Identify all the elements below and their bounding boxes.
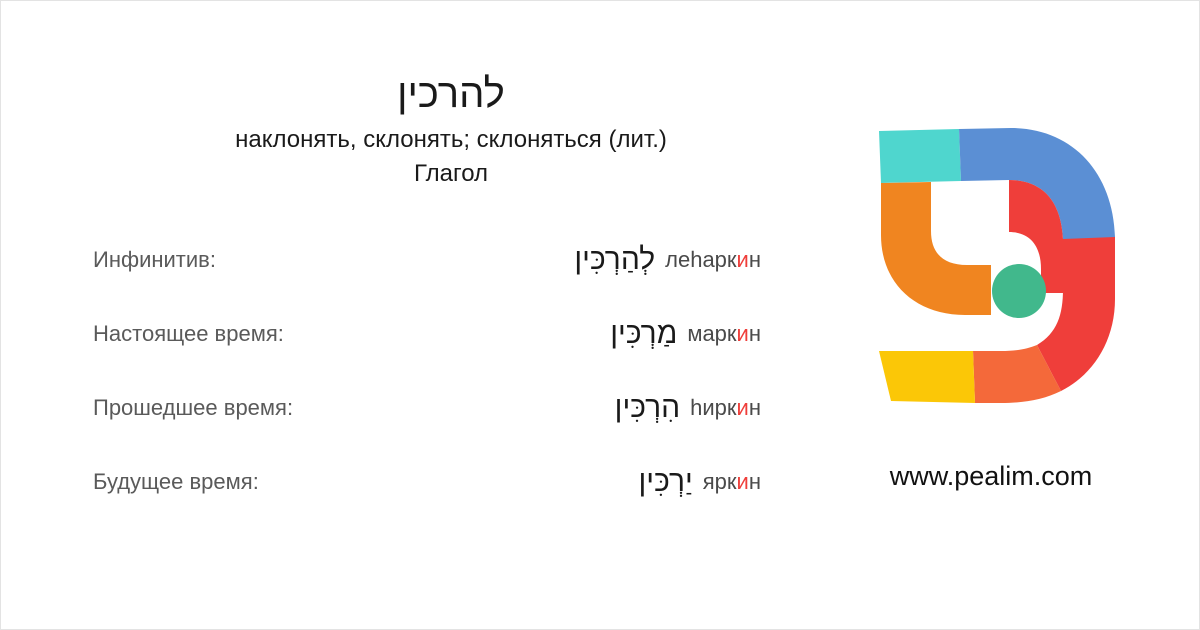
header: להרכין наклонять, склонять; склоняться (… [1,67,901,191]
translit-prefix: һирк [690,395,736,420]
row-forms: לְהַרְכִּיןлеһаркин [301,239,761,281]
logo-segment-yellow [879,351,975,403]
hebrew-form-present: מַרְכִּין [610,313,677,355]
translit-highlight: и [737,395,749,420]
hebrew-form-infinitive: לְהַרְכִּין [574,239,655,281]
pealim-logo-icon [871,119,1121,404]
part-of-speech: Глагол [1,157,901,191]
translit-suffix: н [749,469,761,494]
logo-segment-teal [879,129,961,183]
table-row: Инфинитив: לְהַרְכִּיןлеһаркин [1,233,801,307]
table-row: Настоящее время: מַרְכִּיןмаркин [1,307,801,381]
logo-inner-hook [881,182,991,315]
translit-highlight: и [737,469,749,494]
table-row: Прошедшее время: הִרְכִּיןһиркин [1,381,801,455]
transliteration-past: һиркин [690,393,761,423]
translit-suffix: н [749,321,761,346]
conjugation-table: Инфинитив: לְהַרְכִּיןлеһаркин Настоящее… [1,233,801,529]
transliteration-present: маркин [687,319,761,349]
row-forms: יַרְכִּיןяркин [301,461,761,503]
share-card: להרכין наклонять, склонять; склоняться (… [0,0,1200,630]
row-label-present: Настоящее время: [93,319,284,349]
translit-prefix: марк [687,321,736,346]
row-label-infinitive: Инфинитив: [93,245,216,275]
translit-prefix: леһарк [665,247,736,272]
logo-green-dot [992,264,1046,318]
page-title-hebrew: להרכין [1,67,901,121]
translation-text: наклонять, склонять; склоняться (лит.) [1,123,901,157]
logo-container [861,119,1131,419]
translit-highlight: и [737,247,749,272]
translit-prefix: ярк [703,469,737,494]
logo-segment-orange [881,182,991,315]
hebrew-form-future: יַרְכִּין [639,461,693,503]
row-forms: הִרְכִּיןһиркин [301,387,761,429]
site-url[interactable]: www.pealim.com [821,458,1161,494]
row-label-past: Прошедшее время: [93,393,293,423]
hebrew-form-past: הִרְכִּין [615,387,680,429]
table-row: Будущее время: יַרְכִּיןяркин [1,455,801,529]
translit-highlight: и [737,321,749,346]
translit-suffix: н [749,247,761,272]
translit-suffix: н [749,395,761,420]
transliteration-infinitive: леһаркин [665,245,761,275]
transliteration-future: яркин [703,467,761,497]
row-label-future: Будущее время: [93,467,259,497]
row-forms: מַרְכִּיןмаркин [301,313,761,355]
